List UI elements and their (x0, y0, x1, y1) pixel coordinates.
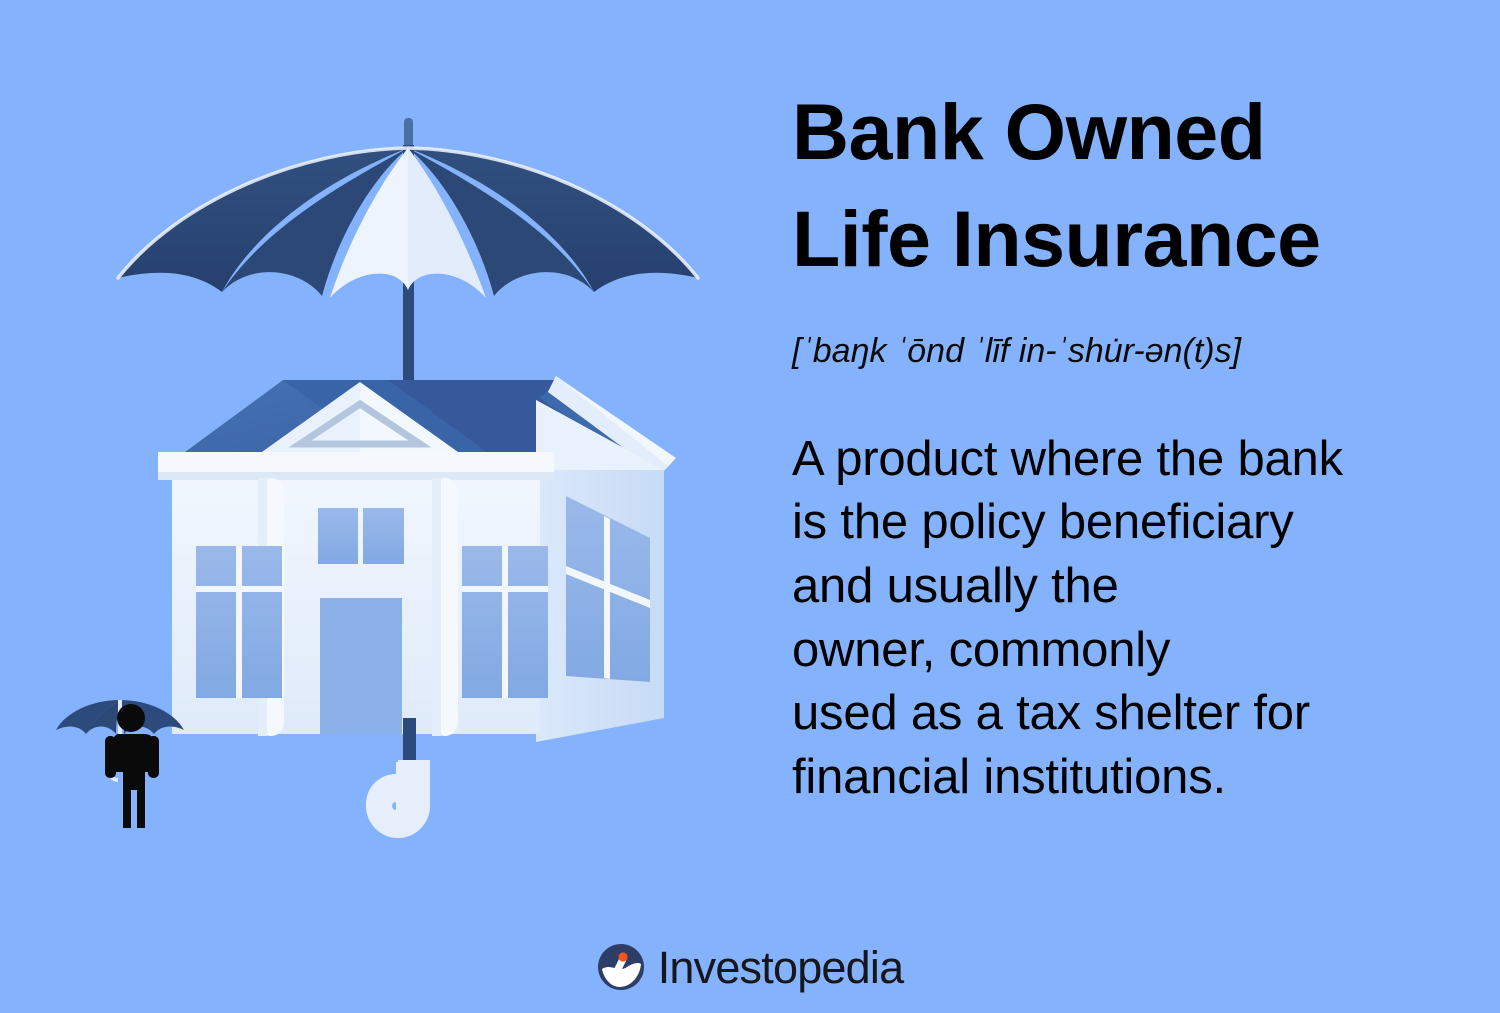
illustration-umbrella-over-bank-house (0, 0, 760, 900)
investopedia-wordmark: Investopedia (658, 945, 904, 990)
infographic-card: Bank Owned Life Insurance [ˈbaŋk ˈōnd ˈl… (0, 0, 1500, 1013)
house-door (320, 598, 402, 734)
investopedia-mark-icon (597, 943, 645, 991)
umbrella-handle-icon (366, 718, 430, 838)
house-window-right (462, 546, 548, 698)
page-title: Bank Owned Life Insurance (792, 78, 1472, 293)
house-window-left (196, 546, 282, 698)
term-text-column: Bank Owned Life Insurance [ˈbaŋk ˈōnd ˈl… (792, 78, 1472, 810)
definition-text: A product where the bank is the policy b… (792, 428, 1472, 810)
pronunciation-text: [ˈbaŋk ˈōnd ˈlīf in-ˈshu̇r-ən(t)s] (792, 331, 1472, 372)
investopedia-logo: Investopedia (0, 943, 1500, 991)
bank-house-icon (158, 376, 676, 742)
person-with-umbrella-icon (56, 700, 184, 828)
